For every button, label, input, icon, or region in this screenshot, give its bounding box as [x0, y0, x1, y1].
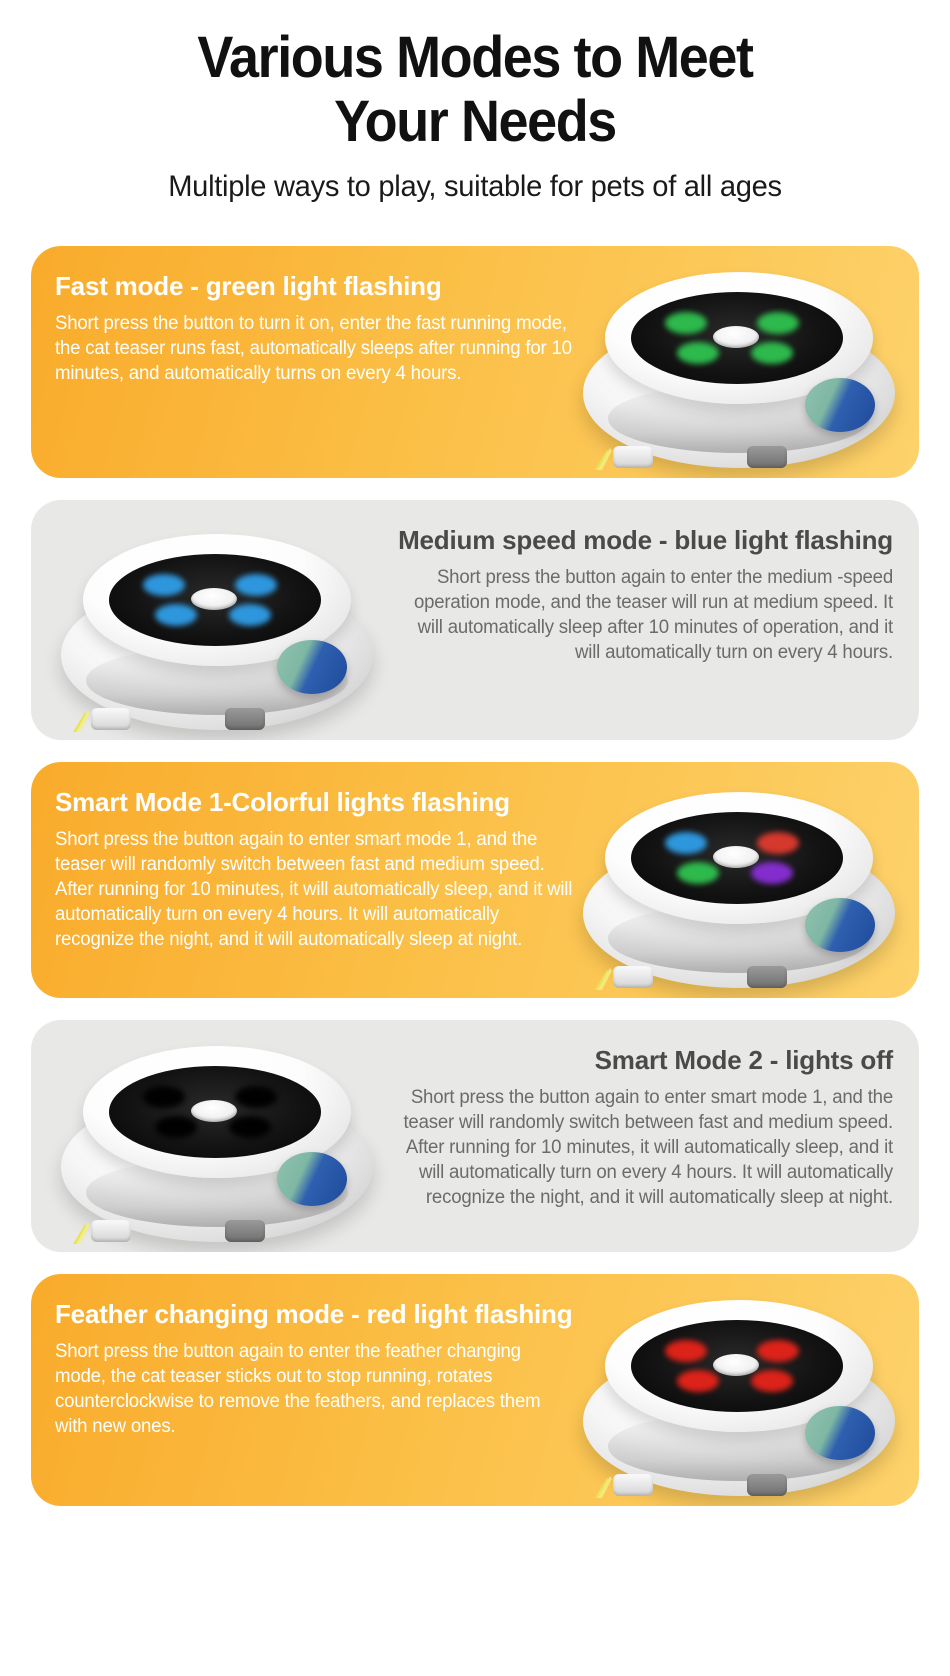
- device-tab-right: [225, 1220, 265, 1242]
- led-light-4: [229, 604, 271, 626]
- device-center-hub: [191, 1100, 237, 1122]
- page-title: Various Modes to Meet Your Needs: [33, 26, 917, 154]
- mode-card-feather-changing-mode: Feather changing mode - red light flashi…: [31, 1274, 919, 1506]
- infographic-page: Various Modes to Meet Your Needs Multipl…: [0, 0, 950, 1676]
- device-tab-right: [747, 446, 787, 468]
- device-center-hub: [191, 588, 237, 610]
- device-center-hub: [713, 1354, 759, 1376]
- led-light-3: [677, 862, 719, 884]
- cat-teaser-device-illustration: [569, 776, 909, 998]
- led-light-4: [751, 862, 793, 884]
- led-light-3: [677, 342, 719, 364]
- device-tab-right: [225, 708, 265, 730]
- cat-teaser-device-illustration: [569, 1284, 909, 1506]
- mode-card-fast-mode: Fast mode - green light flashing Short p…: [31, 246, 919, 478]
- header: Various Modes to Meet Your Needs Multipl…: [0, 0, 950, 204]
- device-feather-ball: [805, 898, 875, 952]
- device-tab-left: [613, 966, 653, 988]
- card-text-block: Smart Mode 2 - lights off Short press th…: [393, 1020, 893, 1210]
- device-tab-right: [747, 1474, 787, 1496]
- led-light-2: [757, 1340, 799, 1362]
- cat-teaser-device-illustration: [569, 256, 909, 478]
- device-feather-ball: [805, 378, 875, 432]
- device-tab-left: [613, 446, 653, 468]
- led-light-2: [235, 1086, 277, 1108]
- card-heading: Medium speed mode - blue light flashing: [393, 524, 893, 556]
- led-light-3: [677, 1370, 719, 1392]
- page-title-line-2: Your Needs: [33, 90, 917, 154]
- led-light-1: [143, 574, 185, 596]
- led-light-2: [757, 312, 799, 334]
- page-title-line-1: Various Modes to Meet: [33, 26, 917, 90]
- mode-card-medium-speed-mode: Medium speed mode - blue light flashing …: [31, 500, 919, 740]
- card-heading: Smart Mode 1-Colorful lights flashing: [55, 786, 585, 818]
- card-heading: Feather changing mode - red light flashi…: [55, 1298, 585, 1330]
- card-body: Short press the button again to enter sm…: [403, 1085, 893, 1210]
- led-light-2: [757, 832, 799, 854]
- card-body: Short press the button again to enter th…: [403, 565, 893, 665]
- card-heading: Smart Mode 2 - lights off: [393, 1044, 893, 1076]
- page-subtitle: Multiple ways to play, suitable for pets…: [14, 170, 936, 204]
- card-body: Short press the button again to enter th…: [55, 1339, 574, 1439]
- card-heading: Fast mode - green light flashing: [55, 270, 585, 302]
- device-tab-left: [91, 1220, 131, 1242]
- mode-card-smart-mode-2: Smart Mode 2 - lights off Short press th…: [31, 1020, 919, 1252]
- device-feather-ball: [277, 640, 347, 694]
- led-light-3: [155, 1116, 197, 1138]
- device-tab-left: [613, 1474, 653, 1496]
- led-light-3: [155, 604, 197, 626]
- led-light-4: [229, 1116, 271, 1138]
- led-light-4: [751, 1370, 793, 1392]
- device-center-hub: [713, 326, 759, 348]
- device-tab-left: [91, 708, 131, 730]
- led-light-1: [143, 1086, 185, 1108]
- led-light-2: [235, 574, 277, 596]
- led-light-1: [665, 832, 707, 854]
- device-feather-ball: [277, 1152, 347, 1206]
- card-text-block: Medium speed mode - blue light flashing …: [393, 500, 893, 665]
- device-tab-right: [747, 966, 787, 988]
- card-body: Short press the button to turn it on, en…: [55, 311, 574, 386]
- mode-card-list: Fast mode - green light flashing Short p…: [0, 246, 950, 1506]
- led-light-1: [665, 1340, 707, 1362]
- cat-teaser-device-illustration: [47, 518, 387, 740]
- card-text-block: Fast mode - green light flashing Short p…: [55, 246, 585, 386]
- card-text-block: Smart Mode 1-Colorful lights flashing Sh…: [55, 762, 585, 952]
- device-feather-ball: [805, 1406, 875, 1460]
- led-light-1: [665, 312, 707, 334]
- mode-card-smart-mode-1: Smart Mode 1-Colorful lights flashing Sh…: [31, 762, 919, 998]
- device-center-hub: [713, 846, 759, 868]
- card-body: Short press the button again to enter sm…: [55, 827, 574, 952]
- led-light-4: [751, 342, 793, 364]
- card-text-block: Feather changing mode - red light flashi…: [55, 1274, 585, 1439]
- cat-teaser-device-illustration: [47, 1030, 387, 1252]
